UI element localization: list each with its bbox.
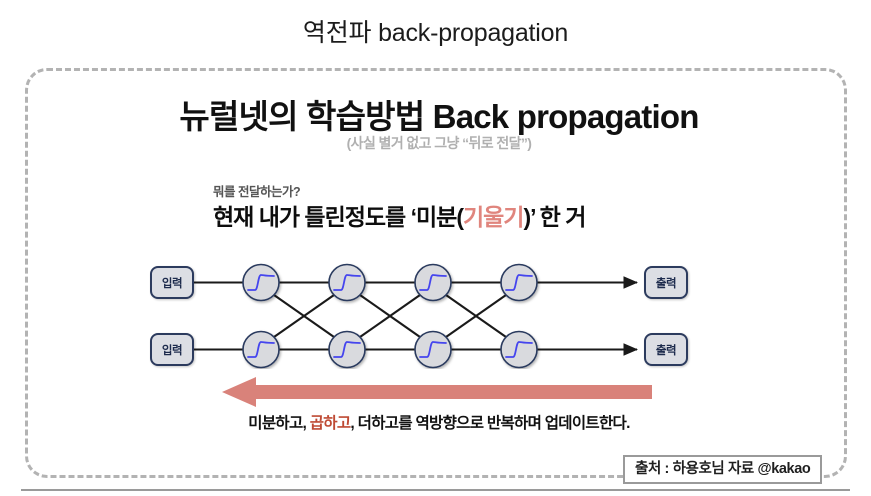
neuron-l2-bottom [329, 332, 365, 368]
neuron-l3-top [415, 265, 451, 301]
output-box-bottom: 출력 [644, 333, 688, 366]
slide-heading: 뉴럴넷의 학습방법 Back propagation [28, 90, 850, 138]
neuron-l1-bottom [243, 332, 279, 368]
neural-network-diagram: 입력 입력 출력 출력 [28, 249, 850, 369]
neuron-l1-top [243, 265, 279, 301]
neuron-l2-top [329, 265, 365, 301]
caption-statement-part2: )’ 한 거 [523, 204, 585, 230]
backward-propagation-arrow [222, 377, 652, 409]
input-box-top-label: 입력 [162, 275, 182, 291]
source-attribution-badge: 출처 : 하용호님 자료 @kakao [623, 455, 822, 484]
page-title: 역전파 back-propagation [0, 18, 871, 48]
slide-heading-en: Back propagation [433, 98, 699, 135]
caption-statement-highlight: 기울기 [463, 204, 523, 230]
input-box-bottom-label: 입력 [162, 342, 182, 358]
left-arrow-icon [222, 377, 652, 409]
slide-subheading: (사실 별거 없고 그냥 “뒤로 전달”) [28, 133, 850, 153]
output-box-top: 출력 [644, 266, 688, 299]
slide-heading-ko: 뉴럴넷의 학습방법 [179, 98, 424, 135]
output-box-top-label: 출력 [656, 275, 676, 291]
input-box-bottom: 입력 [150, 333, 194, 366]
bottom-caption-highlight: 곱하고 [310, 415, 351, 432]
bottom-caption: 미분하고, 곱하고, 더하고를 역방향으로 반복하며 업데이트한다. [28, 411, 850, 433]
input-box-top: 입력 [150, 266, 194, 299]
bottom-divider [21, 489, 850, 491]
output-box-bottom-label: 출력 [656, 342, 676, 358]
neuron-l3-bottom [415, 332, 451, 368]
caption-statement: 현재 내가 틀린정도를 ‘미분(기울기)’ 한 거 [213, 198, 585, 232]
slide-card: 뉴럴넷의 학습방법 Back propagation (사실 별거 없고 그냥 … [25, 68, 847, 478]
bottom-caption-part1: 미분하고, [248, 415, 309, 432]
neuron-l4-bottom [501, 332, 537, 368]
neuron-l4-top [501, 265, 537, 301]
bottom-caption-part2: , 더하고를 역방향으로 반복하며 업데이트한다. [350, 415, 629, 432]
page-title-en: back-propagation [378, 19, 568, 47]
caption-statement-part1: 현재 내가 틀린정도를 ‘미분( [213, 204, 463, 230]
page-title-ko: 역전파 [303, 19, 371, 47]
